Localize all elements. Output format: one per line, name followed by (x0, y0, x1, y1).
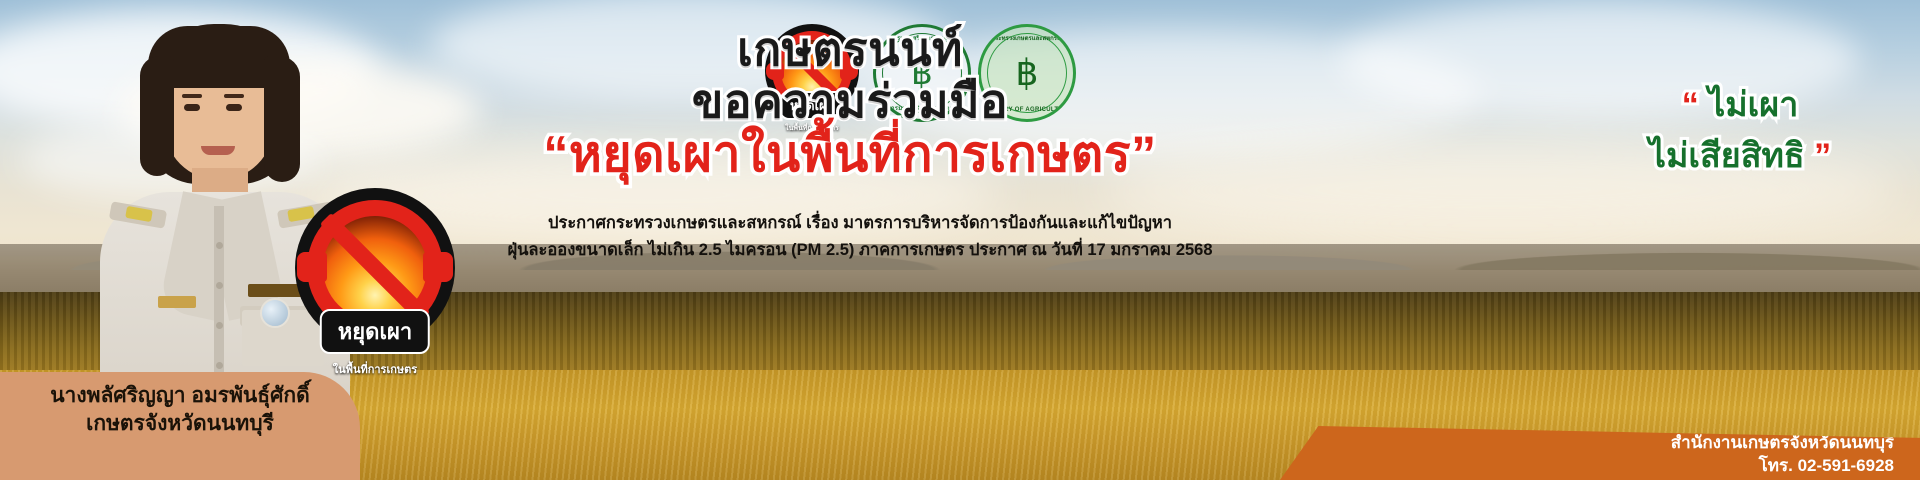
slogan-text-1: ไม่เผา (1708, 86, 1798, 124)
officer-position: เกษตรจังหวัดนนทบุรี (0, 410, 360, 438)
slogan-line-1: “ ไม่เผา (1560, 85, 1920, 126)
uniform-button (216, 242, 223, 249)
eyebrow-left (182, 94, 202, 98)
uniform-button (216, 362, 223, 369)
uniform-button (216, 322, 223, 329)
officer-name: นางพลัศริญญา อมรพันธุ์ศักดิ์ (0, 382, 360, 410)
announcement-text-block: ประกาศกระทรวงเกษตรและสหกรณ์ เรื่อง มาตรก… (470, 210, 1250, 263)
slogan-line-2: ไม่เสียสิทธิ ” (1560, 136, 1920, 177)
headline-block: เกษตรนนท์ ขอความร่วมมือ “หยุดเผาในพื้นที… (470, 26, 1230, 180)
slogan-text-2: ไม่เสียสิทธิ (1649, 137, 1805, 175)
hair-side-left (140, 56, 174, 176)
headline-slogan-red: “หยุดเผาในพื้นที่การเกษตร” (470, 128, 1230, 181)
mouth-shape (201, 146, 235, 155)
hand-icon-left (297, 252, 327, 282)
headline-line-1: เกษตรนนท์ (470, 26, 1230, 74)
logo-sublabel: ในพื้นที่การเกษตร (333, 360, 417, 378)
open-quote: “ (1682, 86, 1699, 124)
stop-burning-logo-large: หยุดเผา ในพื้นที่การเกษตร (295, 188, 455, 348)
hand-icon-right (423, 252, 453, 282)
eye-left (184, 104, 200, 111)
uniform-badge-pin (260, 298, 290, 328)
eyebrow-right (224, 94, 244, 98)
eye-right (226, 104, 242, 111)
headline-line-2: ขอความร่วมมือ (470, 78, 1230, 126)
green-slogan-block: “ ไม่เผา ไม่เสียสิทธิ ” (1560, 85, 1920, 177)
agriculture-campaign-banner: หยุดเผา ในพื้นที่การเกษตร หยุดเผา ในพื้น… (0, 0, 1920, 480)
uniform-ribbon (158, 296, 196, 308)
announcement-line-1: ประกาศกระทรวงเกษตรและสหกรณ์ เรื่อง มาตรก… (470, 210, 1250, 237)
office-phone: โทร. 02-591-6928 (1320, 455, 1894, 478)
uniform-button (216, 282, 223, 289)
close-quote: ” (1814, 137, 1831, 175)
announcement-line-2: ฝุ่นละอองขนาดเล็ก ไม่เกิน 2.5 ไมครอน (PM… (470, 237, 1250, 264)
officer-nameplate: นางพลัศริญญา อมรพันธุ์ศักดิ์ เกษตรจังหวั… (0, 372, 360, 480)
hair-side-right (264, 56, 300, 182)
logo-label: หยุดเผา (320, 309, 430, 354)
